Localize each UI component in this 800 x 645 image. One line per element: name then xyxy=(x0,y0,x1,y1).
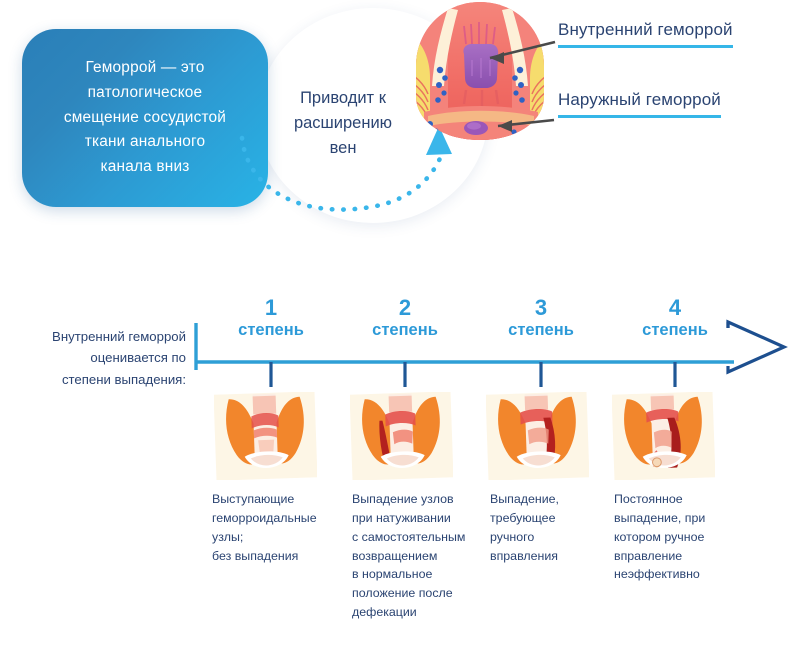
stage-caption-4: Постоянное выпадение, при котором ручное… xyxy=(614,490,732,584)
label-internal-underline xyxy=(558,45,733,48)
stage-figure-4 xyxy=(612,392,715,480)
stages-section: Внутренний геморрой оценивается по степе… xyxy=(0,290,800,645)
stage-word-3: степень xyxy=(486,319,596,341)
stage-heading-4: 4 степень xyxy=(620,296,730,341)
stage-figure-2 xyxy=(350,392,453,480)
label-external-text: Наружный геморрой xyxy=(558,90,721,109)
anal-canal-cross-section-illustration xyxy=(404,0,556,150)
stage-word-1: степень xyxy=(216,319,326,341)
label-external-underline xyxy=(558,115,721,118)
stage-number-4: 4 xyxy=(620,296,730,319)
overview-section: Геморрой — это патологическое смещение с… xyxy=(0,0,800,240)
stage-word-2: степень xyxy=(350,319,460,341)
label-internal-text: Внутренний геморрой xyxy=(558,20,733,39)
stage-number-1: 1 xyxy=(216,296,326,319)
stage-number-3: 3 xyxy=(486,296,596,319)
definition-card: Геморрой — это патологическое смещение с… xyxy=(22,29,268,207)
label-external-hemorrhoid: Наружный геморрой xyxy=(558,90,721,118)
stage-word-4: степень xyxy=(620,319,730,341)
stage-caption-3: Выпадение, требующее ручного вправления xyxy=(490,490,608,565)
stage-caption-2: Выпадение узлов при натуживании с самост… xyxy=(352,490,470,622)
stage-caption-1: Выступающие геморроидальные узлы; без вы… xyxy=(212,490,330,565)
stage-figure-3 xyxy=(486,392,589,480)
stage-figure-1 xyxy=(214,392,317,480)
stage-heading-1: 1 степень xyxy=(216,296,326,341)
stage-heading-3: 3 степень xyxy=(486,296,596,341)
stage-heading-2: 2 степень xyxy=(350,296,460,341)
label-internal-hemorrhoid: Внутренний геморрой xyxy=(558,20,733,48)
definition-text: Геморрой — это патологическое смещение с… xyxy=(52,56,238,181)
stage-number-2: 2 xyxy=(350,296,460,319)
